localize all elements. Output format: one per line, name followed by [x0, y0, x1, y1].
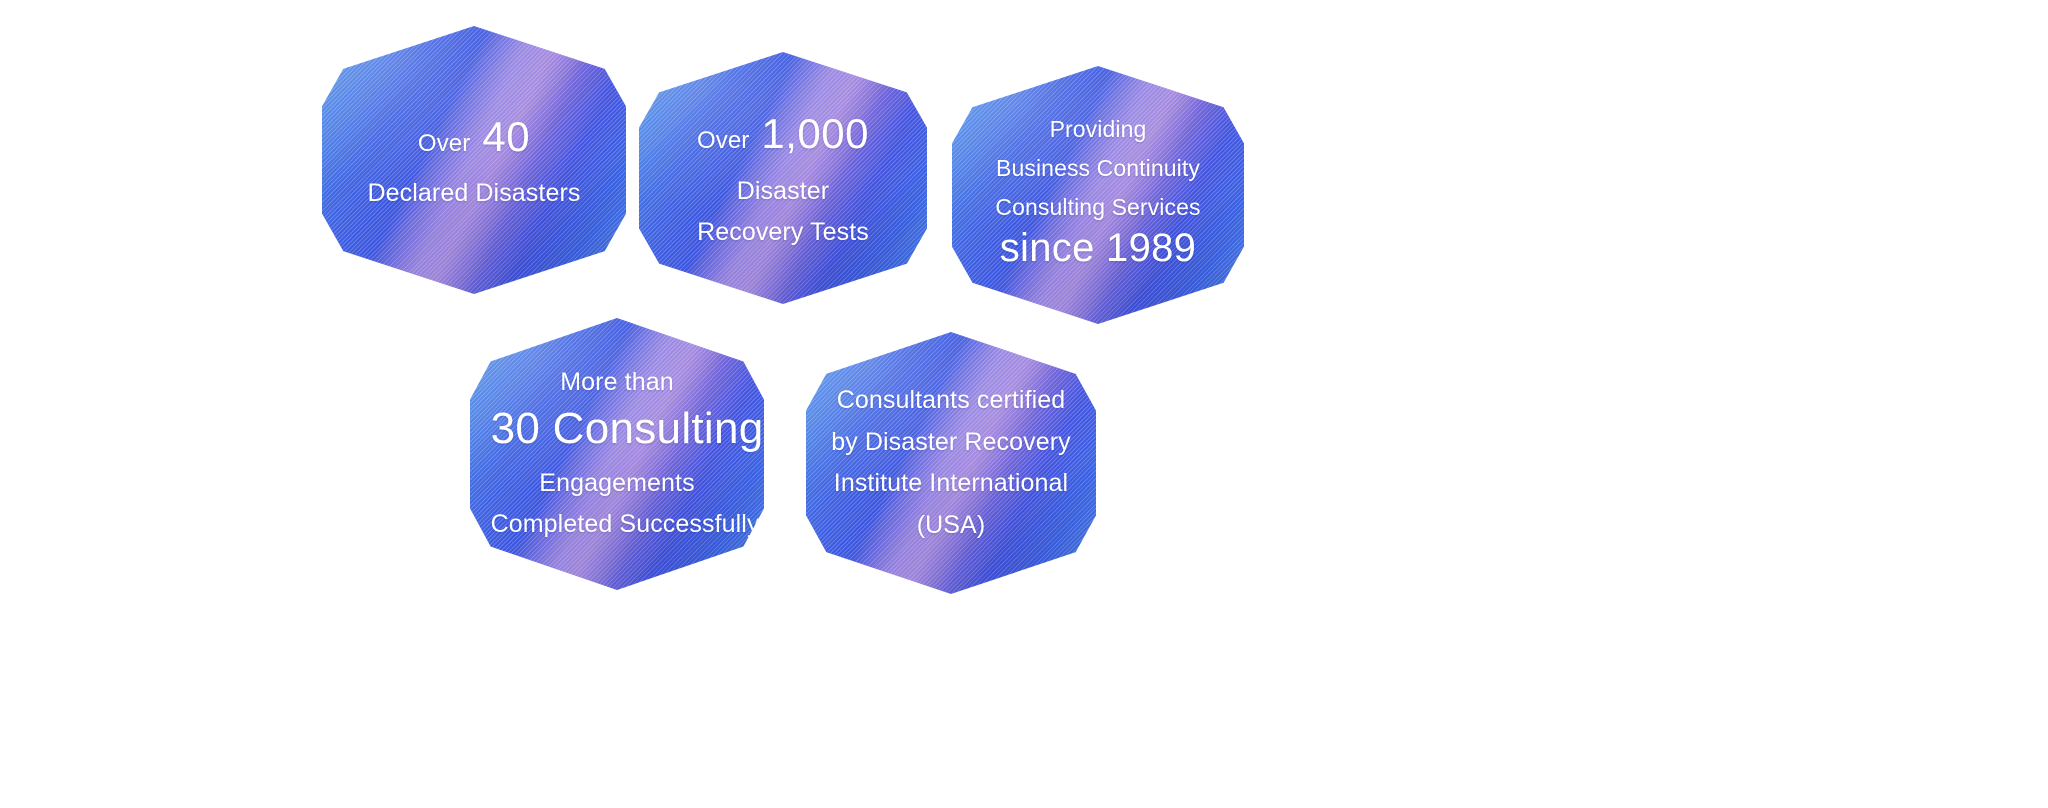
- stat-value: 1,000: [761, 106, 869, 162]
- stat-prefix: Over: [418, 128, 470, 160]
- stat-headline-row: Over 1,000: [659, 106, 907, 162]
- hexagon-text-block: Over 1,000 Disaster Recovery Tests: [659, 106, 907, 249]
- infographic-canvas: Over 40 Declared Disasters Over 1,000 Di…: [0, 0, 2048, 808]
- stat-line-2: by Disaster Recovery: [826, 426, 1075, 460]
- hexagon-consulting-since-1989[interactable]: Providing Business Continuity Consulting…: [952, 66, 1244, 324]
- hexagon-declared-disasters[interactable]: Over 40 Declared Disasters: [322, 26, 626, 294]
- stat-line-2: Business Continuity: [972, 153, 1223, 184]
- hexagon-consulting-engagements[interactable]: More than 30 Consulting Engagements Comp…: [470, 318, 764, 590]
- stat-headline-row: Over 40: [343, 109, 604, 165]
- stat-label-line-2: Recovery Tests: [659, 216, 907, 250]
- stat-value: 40: [482, 109, 530, 165]
- stat-line-3: Consulting Services: [972, 192, 1223, 223]
- stat-line-1: Consultants certified: [826, 384, 1075, 418]
- hexagon-text-block: More than 30 Consulting Engagements Comp…: [491, 366, 744, 541]
- stat-highlight: 30 Consulting: [491, 400, 744, 459]
- stat-line-3: Institute International: [826, 467, 1075, 501]
- hexagon-disaster-recovery-tests[interactable]: Over 1,000 Disaster Recovery Tests: [639, 52, 927, 304]
- stat-line-3: Engagements: [491, 467, 744, 501]
- hexagon-text-block: Providing Business Continuity Consulting…: [972, 114, 1223, 276]
- stat-prefix: Over: [697, 125, 749, 157]
- stat-line-1: More than: [491, 366, 744, 400]
- hexagon-certified-consultants[interactable]: Consultants certified by Disaster Recove…: [806, 332, 1096, 594]
- stat-highlight: since 1989: [972, 222, 1223, 276]
- stat-label: Declared Disasters: [343, 177, 604, 211]
- stat-label-line-1: Disaster: [659, 175, 907, 209]
- hexagon-text-block: Over 40 Declared Disasters: [343, 109, 604, 211]
- stat-line-4: Completed Successfully: [491, 508, 744, 542]
- hexagon-text-block: Consultants certified by Disaster Recove…: [826, 384, 1075, 542]
- stat-line-4: (USA): [826, 509, 1075, 543]
- stat-line-1: Providing: [972, 114, 1223, 145]
